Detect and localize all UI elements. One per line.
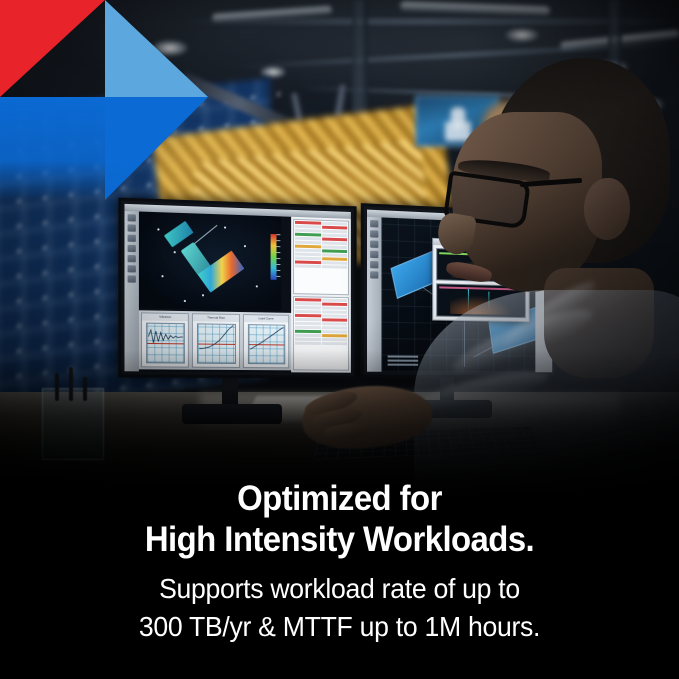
graph-panel-title: Vibration — [142, 313, 188, 321]
graph-panel[interactable]: Load Curve — [243, 314, 290, 368]
table-row — [295, 341, 321, 344]
legend-entry — [388, 364, 419, 366]
legend-entry — [388, 355, 419, 357]
table-row — [295, 309, 321, 312]
subtext-line-1: Supports workload rate of up to — [17, 570, 662, 608]
headline-line-1: Optimized for — [20, 478, 658, 519]
graph-plot-area — [248, 324, 286, 364]
subtext-line-2: 300 TB/yr & MTTF up to 1M hours. — [17, 608, 662, 646]
table-row — [295, 321, 321, 324]
star-point — [157, 228, 159, 230]
parameter-table-block[interactable] — [293, 296, 349, 371]
table-row — [322, 341, 347, 344]
pen-holder — [42, 388, 104, 460]
pen — [55, 373, 59, 401]
parameter-column[interactable] — [322, 222, 347, 293]
table-row — [322, 306, 347, 309]
table-row — [295, 264, 321, 268]
table-row — [322, 330, 347, 333]
table-row — [322, 338, 347, 341]
tool-icon-rotate[interactable] — [128, 224, 136, 231]
tool-palette[interactable] — [367, 217, 381, 372]
table-row — [322, 302, 347, 305]
marketing-banner: Vibration Thermal Rise — [0, 0, 679, 679]
graph-plot-area — [197, 323, 235, 364]
tool-palette[interactable] — [124, 211, 138, 371]
table-row — [295, 306, 321, 309]
graph-curve-ramp — [249, 325, 285, 351]
tool-icon-zoom[interactable] — [128, 235, 136, 242]
simulation-monitor-screen[interactable]: Vibration Thermal Rise — [124, 204, 350, 373]
headline-line-2: High Intensity Workloads. — [20, 519, 658, 560]
table-row — [295, 333, 321, 336]
tool-icon-analyze[interactable] — [370, 271, 378, 278]
star-point — [161, 275, 163, 277]
graph-panel-title: Load Curve — [244, 315, 289, 323]
parameter-column[interactable] — [322, 298, 347, 369]
table-row — [295, 298, 321, 301]
color-scale-ticks — [276, 234, 280, 280]
engineer-ear — [584, 178, 630, 240]
monitor-stand-left-base — [182, 404, 282, 424]
pen — [69, 367, 73, 401]
brand-corner-mark — [0, 0, 260, 210]
graph-plot-area — [146, 323, 185, 364]
table-row — [295, 302, 321, 305]
cad-legend — [388, 355, 419, 365]
corner-red-triangle — [0, 0, 105, 97]
tool-icon-select[interactable] — [128, 214, 136, 221]
legend-entry — [388, 360, 419, 362]
ceiling-lamp-5 — [260, 66, 286, 78]
satellite-3d-viewport[interactable] — [139, 211, 281, 310]
parameter-table[interactable] — [291, 217, 351, 373]
tool-icon-mesh[interactable] — [128, 255, 136, 262]
table-row — [322, 322, 347, 325]
table-row — [322, 298, 347, 301]
corner-graphic-svg — [0, 0, 260, 210]
graph-panel-row: Vibration Thermal Rise — [139, 310, 291, 370]
star-point — [202, 294, 204, 296]
table-row — [295, 325, 321, 328]
tool-icon-solve[interactable] — [128, 265, 136, 272]
star-point — [184, 300, 186, 302]
graph-panel-title: Thermal Rise — [193, 314, 238, 322]
tool-icon-render[interactable] — [370, 261, 378, 268]
star-point — [174, 251, 176, 253]
graph-curve-sine — [147, 324, 184, 350]
star-point — [256, 285, 257, 287]
graph-panel[interactable]: Vibration — [141, 312, 189, 367]
table-row — [295, 313, 321, 316]
tool-icon-export[interactable] — [128, 275, 136, 282]
table-row — [322, 326, 347, 329]
parameter-table-block[interactable] — [293, 219, 349, 295]
parameter-column[interactable] — [295, 221, 321, 292]
table-row — [322, 265, 347, 269]
table-row — [322, 318, 347, 321]
graph-panel[interactable]: Thermal Rise — [192, 313, 239, 368]
table-row — [322, 310, 347, 313]
tool-icon-assemble[interactable] — [370, 251, 378, 258]
table-row — [322, 314, 347, 317]
pen — [83, 377, 87, 401]
engineer-foreground — [424, 58, 679, 500]
simulation-monitor[interactable]: Vibration Thermal Rise — [118, 197, 356, 378]
graph-curve-exponential — [198, 324, 234, 350]
tool-icon-extrude[interactable] — [370, 240, 378, 247]
caption-block: Optimized for High Intensity Workloads. … — [0, 478, 679, 646]
parameter-column[interactable] — [295, 298, 321, 369]
table-row — [295, 317, 321, 320]
table-row — [322, 334, 347, 337]
star-point — [244, 245, 245, 247]
star-point — [224, 226, 225, 228]
tool-icon-sketch[interactable] — [370, 230, 378, 238]
tool-icon-measure[interactable] — [128, 245, 136, 252]
corner-lightblue-triangle — [105, 0, 208, 97]
ceiling-lamp-2 — [505, 28, 539, 42]
corner-blue-arrow — [105, 97, 208, 200]
table-row — [295, 329, 321, 332]
tool-icon-select[interactable] — [370, 220, 378, 228]
table-row — [295, 337, 321, 340]
